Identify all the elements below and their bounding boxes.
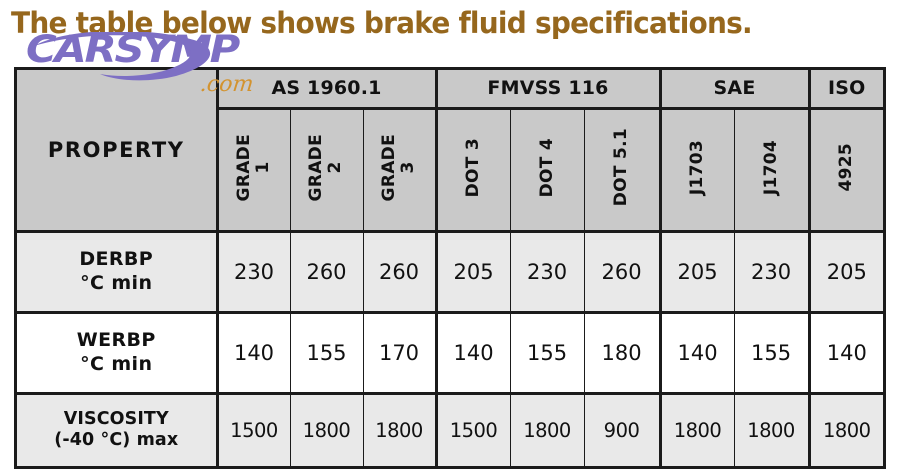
row-label-derbp: DERBP °C min: [17, 231, 217, 312]
column-header-j1703: J1703: [660, 108, 734, 231]
column-header-dot-4-label: DOT 4: [538, 138, 557, 197]
cell-derbp-j1703: 205: [660, 231, 734, 312]
cell-werbp-grade-2: 155: [290, 312, 363, 393]
cell-derbp-grade-1: 230: [217, 231, 290, 312]
row-label-derbp-line2: °C min: [17, 272, 216, 296]
column-header-4925-label: 4925: [837, 143, 856, 192]
group-header-sae: SAE: [660, 70, 809, 108]
title-bar: The table below shows brake fluid specif…: [0, 0, 900, 48]
column-header-grade-2-label: GRADE 2: [307, 134, 345, 201]
group-header-as: AS 1960.1: [217, 70, 436, 108]
column-header-dot-5-1: DOT 5.1: [584, 108, 660, 231]
cell-viscosity-dot-3: 1500: [436, 393, 510, 466]
property-header-cell: PROPERTY: [17, 70, 217, 231]
cell-viscosity-dot-5-1: 900: [584, 393, 660, 466]
column-header-dot-4: DOT 4: [510, 108, 584, 231]
column-header-dot-5-1-label: DOT 5.1: [612, 128, 631, 206]
table-row-viscosity: VISCOSITY (-40 °C) max 1500 1800 1800 15…: [17, 393, 883, 466]
column-header-grade-2: GRADE 2: [290, 108, 363, 231]
column-header-dot-3-label: DOT 3: [464, 138, 483, 197]
cell-viscosity-j1703: 1800: [660, 393, 734, 466]
cell-derbp-j1704: 230: [734, 231, 809, 312]
cell-werbp-j1704: 155: [734, 312, 809, 393]
group-header-row: PROPERTY AS 1960.1 FMVSS 116 SAE ISO: [17, 70, 883, 108]
cell-werbp-4925: 140: [809, 312, 883, 393]
cell-viscosity-j1704: 1800: [734, 393, 809, 466]
cell-viscosity-4925: 1800: [809, 393, 883, 466]
column-header-j1704-label: J1704: [762, 140, 781, 195]
table-header: PROPERTY AS 1960.1 FMVSS 116 SAE ISO GRA…: [17, 70, 883, 231]
table-row-werbp: WERBP °C min 140 155 170 140 155 180 140…: [17, 312, 883, 393]
column-header-grade-3-label: GRADE 3: [380, 134, 418, 201]
row-label-viscosity-line2: (-40 °C) max: [17, 430, 216, 452]
cell-werbp-dot-3: 140: [436, 312, 510, 393]
cell-werbp-dot-4: 155: [510, 312, 584, 393]
row-label-viscosity-line1: VISCOSITY: [17, 409, 216, 431]
cell-derbp-4925: 205: [809, 231, 883, 312]
cell-viscosity-grade-1: 1500: [217, 393, 290, 466]
column-header-j1704: J1704: [734, 108, 809, 231]
spec-table-grid: PROPERTY AS 1960.1 FMVSS 116 SAE ISO GRA…: [17, 70, 883, 466]
row-label-derbp-line1: DERBP: [17, 248, 216, 272]
group-header-fmvss: FMVSS 116: [436, 70, 660, 108]
cell-derbp-dot-5-1: 260: [584, 231, 660, 312]
row-label-werbp-line1: WERBP: [17, 329, 216, 353]
column-header-4925: 4925: [809, 108, 883, 231]
row-label-werbp: WERBP °C min: [17, 312, 217, 393]
brake-fluid-spec-table: PROPERTY AS 1960.1 FMVSS 116 SAE ISO GRA…: [14, 67, 886, 469]
cell-viscosity-grade-2: 1800: [290, 393, 363, 466]
cell-viscosity-dot-4: 1800: [510, 393, 584, 466]
page-title: The table below shows brake fluid specif…: [11, 6, 752, 40]
cell-derbp-dot-4: 230: [510, 231, 584, 312]
cell-werbp-grade-3: 170: [363, 312, 436, 393]
cell-werbp-dot-5-1: 180: [584, 312, 660, 393]
column-header-grade-1-label: GRADE 1: [235, 134, 273, 201]
cell-derbp-grade-3: 260: [363, 231, 436, 312]
row-label-werbp-line2: °C min: [17, 353, 216, 377]
row-label-viscosity: VISCOSITY (-40 °C) max: [17, 393, 217, 466]
cell-werbp-grade-1: 140: [217, 312, 290, 393]
cell-derbp-dot-3: 205: [436, 231, 510, 312]
column-header-j1703-label: J1703: [688, 140, 707, 195]
cell-werbp-j1703: 140: [660, 312, 734, 393]
column-header-dot-3: DOT 3: [436, 108, 510, 231]
cell-viscosity-grade-3: 1800: [363, 393, 436, 466]
table-body: DERBP °C min 230 260 260 205 230 260 205…: [17, 231, 883, 466]
group-header-iso: ISO: [809, 70, 883, 108]
column-header-grade-3: GRADE 3: [363, 108, 436, 231]
column-header-grade-1: GRADE 1: [217, 108, 290, 231]
cell-derbp-grade-2: 260: [290, 231, 363, 312]
table-row-derbp: DERBP °C min 230 260 260 205 230 260 205…: [17, 231, 883, 312]
